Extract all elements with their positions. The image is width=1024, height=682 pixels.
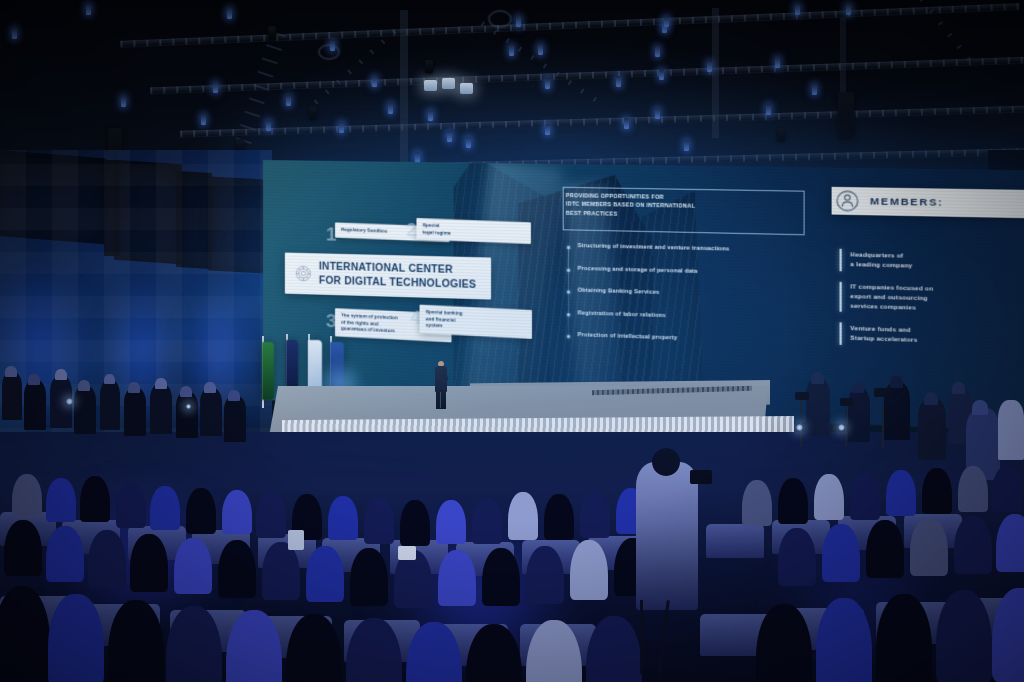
audience-member: [472, 498, 502, 544]
videographer: [636, 462, 698, 610]
moving-head-light: [777, 128, 785, 141]
white-stage-lamp: [460, 83, 473, 94]
moving-head-light: [425, 60, 433, 73]
photographer-head: [852, 382, 864, 393]
audience-member: [910, 518, 948, 576]
audience-member: [508, 492, 538, 540]
videographer-head: [652, 448, 680, 476]
member-item-2: IT companies focused on export and outso…: [840, 282, 1024, 318]
ceiling-ring-rig: [318, 44, 340, 60]
audience-member: [46, 478, 76, 522]
white-stage-lamp: [424, 80, 437, 91]
photographer-head: [972, 400, 988, 415]
stage-speaker: [432, 361, 450, 409]
flag-green: [262, 342, 274, 400]
audience-member: [400, 500, 430, 546]
audience-member: [886, 470, 916, 516]
pillar-label-1: Regulatory Sandbox: [341, 227, 387, 236]
list-item: Structuring of investment and venture tr…: [567, 243, 818, 255]
member-accent-bar: [840, 282, 842, 312]
members-heading-bar: MEMBERS:: [832, 187, 1024, 219]
audience-member: [778, 478, 808, 524]
list-item: Obtaining Banking Services: [567, 287, 818, 300]
pillar-label-2: Special legal regime: [423, 222, 451, 237]
member-item-3: Venture funds and Startup accelerators: [840, 322, 1024, 351]
slide-title-card: INTERNATIONAL CENTER FOR DIGITAL TECHNOL…: [285, 253, 491, 300]
member-accent-bar: [840, 249, 842, 271]
audience-member: [436, 500, 466, 544]
audience-member: [88, 530, 126, 588]
audience-member-with-paper: [288, 530, 304, 550]
audience-member: [526, 546, 564, 604]
audience-member: [922, 468, 952, 514]
people-group-icon: [835, 189, 860, 213]
bullet-dot-icon: [567, 313, 570, 316]
audience-member: [174, 538, 212, 594]
audience-member: [936, 590, 992, 682]
camera-tripod: [640, 600, 643, 674]
audience-member: [218, 540, 256, 598]
bullet-dot-icon: [567, 290, 570, 293]
photographer-head: [811, 372, 824, 384]
camera: [874, 388, 890, 397]
list-item: Registration of labor relations: [567, 310, 818, 324]
audience-member: [850, 474, 880, 520]
photographer-head: [890, 376, 903, 388]
pillar-number-2: 2: [406, 221, 416, 241]
audience-member: [350, 548, 388, 606]
audience-member: [186, 488, 216, 534]
bullet-dot-icon: [567, 335, 570, 338]
audience-member: [822, 524, 860, 582]
camera: [840, 398, 853, 406]
audience-member: [328, 496, 358, 540]
video-camera: [690, 470, 712, 484]
white-stage-lamp: [442, 78, 455, 89]
member-accent-bar: [840, 322, 842, 344]
members-heading: MEMBERS:: [870, 195, 943, 208]
audience-member: [80, 476, 110, 522]
photographer-head: [952, 382, 965, 394]
audience-member: [958, 466, 988, 512]
audience-member: [992, 466, 1022, 512]
moving-head-light: [268, 26, 276, 39]
pillar-label-4: Special banking and financial system: [426, 309, 463, 331]
pillar-chip-4: Special banking and financial system: [420, 305, 532, 339]
opportunities-heading: PROVIDING OPPORTUNITIES FOR IDTC MEMBERS…: [566, 192, 804, 222]
audience-member: [482, 548, 520, 606]
audience-member: [580, 492, 610, 538]
audience-member: [4, 520, 42, 576]
bullet-dot-icon: [567, 246, 570, 249]
member-label: IT companies focused on export and outso…: [850, 282, 1013, 317]
member-label: Headquarters of a leading company: [850, 250, 1013, 275]
member-item-1: Headquarters of a leading company: [840, 249, 1024, 277]
audience-member: [438, 550, 476, 606]
audience-member: [222, 490, 252, 534]
audience-member: [814, 474, 844, 520]
line-array-speaker: [838, 92, 854, 138]
audience-member: [150, 486, 180, 530]
audience-member: [46, 526, 84, 582]
audience-member: [306, 546, 344, 602]
pillar-label-3: The system of protection of the rights a…: [341, 313, 398, 336]
conference-hall-scene: 1 Regulatory Sandbox 2 Special legal reg…: [0, 0, 1024, 682]
bullet-dot-icon: [567, 268, 570, 271]
audience-member: [116, 482, 146, 528]
audience-member: [778, 528, 816, 586]
audience-member: [12, 474, 42, 518]
moving-head-light: [309, 106, 317, 119]
audience-member: [544, 494, 574, 540]
audience-member: [130, 534, 168, 592]
audience-member: [570, 540, 608, 600]
ceiling-ring-rig: [488, 10, 512, 28]
fingerprint-circuit-icon: [295, 265, 312, 283]
opportunities-list: Structuring of investment and venture tr…: [567, 243, 818, 363]
list-item: Protection of intellectual property: [567, 332, 818, 346]
photographer-head: [924, 392, 938, 405]
member-label: Venture funds and Startup accelerators: [850, 323, 1013, 349]
audience-member: [256, 492, 286, 538]
audience-member: [954, 516, 992, 574]
audience-member: [48, 594, 104, 682]
camera: [795, 392, 809, 400]
list-item: Processing and storage of personal data: [567, 265, 818, 278]
audience-member: [866, 520, 904, 578]
audience-member: [262, 542, 300, 600]
audience-member: [364, 498, 394, 544]
audience-member: [742, 480, 772, 526]
audience-member-with-device: [398, 546, 416, 560]
